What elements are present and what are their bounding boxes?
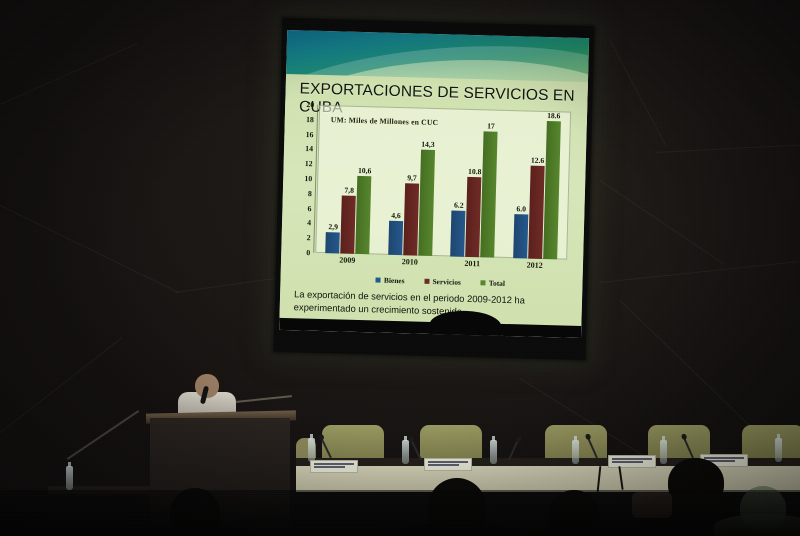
legend-swatch-icon: [376, 277, 381, 282]
bar-value-label: 6.0: [516, 204, 526, 213]
x-axis-label-2010: 2010: [382, 257, 437, 272]
y-axis-tick: 14: [305, 144, 313, 153]
y-axis-tick: 20: [306, 100, 314, 109]
y-axis-tick: 6: [307, 204, 311, 213]
water-bottle: [66, 466, 73, 490]
x-axis-label-2012: 2012: [507, 260, 562, 275]
bar-servicios-2012: 12.6: [528, 165, 545, 259]
legend-label: Total: [489, 278, 505, 287]
legend-item-bienes: Bienes: [376, 275, 405, 285]
bar-total-2009: 10,6: [355, 175, 371, 254]
y-axis-tick: 4: [307, 218, 311, 227]
y-axis-tick: 8: [308, 189, 312, 198]
bar-value-label: 6.2: [454, 201, 464, 210]
y-axis-tick: 10: [304, 174, 312, 183]
panel-name-card: [608, 455, 656, 468]
name-card-line: [428, 461, 468, 463]
name-card-line: [314, 466, 345, 468]
y-axis-tick: 2: [307, 233, 311, 242]
bar-group: 6.012.618.6: [507, 110, 566, 259]
legend-swatch-icon: [424, 278, 429, 283]
name-card-line: [704, 457, 744, 459]
water-bottle: [308, 438, 315, 462]
legend-label: Servicios: [432, 276, 461, 286]
panel-table-front: [296, 466, 800, 492]
y-axis-tick: 12: [305, 159, 313, 168]
bar-value-label: 10,6: [358, 166, 372, 175]
legend-item-total: Total: [481, 278, 505, 288]
name-card-line: [612, 458, 652, 460]
water-bottle: [402, 440, 409, 464]
bar-bienes-2009: 2,9: [325, 232, 340, 254]
legend-label: Bienes: [384, 275, 405, 285]
bar-groups: 2,97,810,64,69,714,36.210.8176.012.618.6: [316, 105, 570, 260]
bar-value-label: 9,7: [407, 174, 417, 183]
bar-value-label: 17: [487, 122, 495, 131]
presentation-slide: EXPORTACIONES DE SERVICIOS EN CUBA 20181…: [279, 30, 589, 338]
bar-value-label: 10.8: [468, 167, 482, 176]
water-bottle: [490, 440, 497, 464]
bar-value-label: 14,3: [421, 140, 435, 149]
auditorium-scene: EXPORTACIONES DE SERVICIOS EN CUBA 20181…: [0, 0, 800, 536]
legend-swatch-icon: [481, 280, 486, 285]
name-card-line: [612, 461, 643, 463]
projection-screen: EXPORTACIONES DE SERVICIOS EN CUBA 20181…: [274, 18, 595, 360]
legend-item-servicios: Servicios: [424, 276, 461, 286]
bar-servicios-2009: 7,8: [340, 196, 356, 254]
y-axis-tick: 0: [306, 248, 310, 257]
panel-name-card: [424, 458, 472, 471]
bar-value-label: 4,6: [391, 211, 401, 220]
bar-value-label: 12.6: [531, 155, 545, 164]
bar-group: 4,69,714,3: [382, 107, 441, 256]
foreground-shadow: [0, 490, 800, 536]
x-axis-label-2011: 2011: [445, 258, 500, 273]
water-bottle: [572, 440, 579, 464]
y-axis-tick: 16: [306, 130, 314, 139]
bar-total-2011: 17: [480, 132, 497, 258]
water-bottle: [775, 438, 782, 462]
bar-value-label: 18.6: [547, 111, 561, 120]
bar-value-label: 2,9: [328, 222, 338, 231]
name-card-line: [428, 464, 459, 466]
bar-bienes-2012: 6.0: [513, 214, 528, 259]
water-bottle: [660, 440, 667, 464]
name-card-line: [314, 463, 354, 465]
bar-servicios-2011: 10.8: [465, 177, 481, 257]
x-axis-label-2009: 2009: [320, 255, 375, 270]
bar-value-label: 7,8: [344, 186, 354, 195]
bar-total-2010: 14,3: [418, 150, 435, 256]
panel-name-card: [310, 460, 358, 473]
bar-total-2012: 18.6: [543, 121, 561, 259]
y-axis-tick: 18: [306, 115, 314, 124]
bar-bienes-2011: 6.2: [450, 211, 465, 257]
bar-group: 6.210.817: [445, 108, 504, 257]
bar-chart: 20181614121086420 UM: Miles de Millones …: [292, 104, 575, 291]
bar-group: 2,97,810,6: [320, 105, 379, 254]
bar-servicios-2010: 9,7: [403, 183, 419, 255]
bar-bienes-2010: 4,6: [388, 221, 403, 255]
